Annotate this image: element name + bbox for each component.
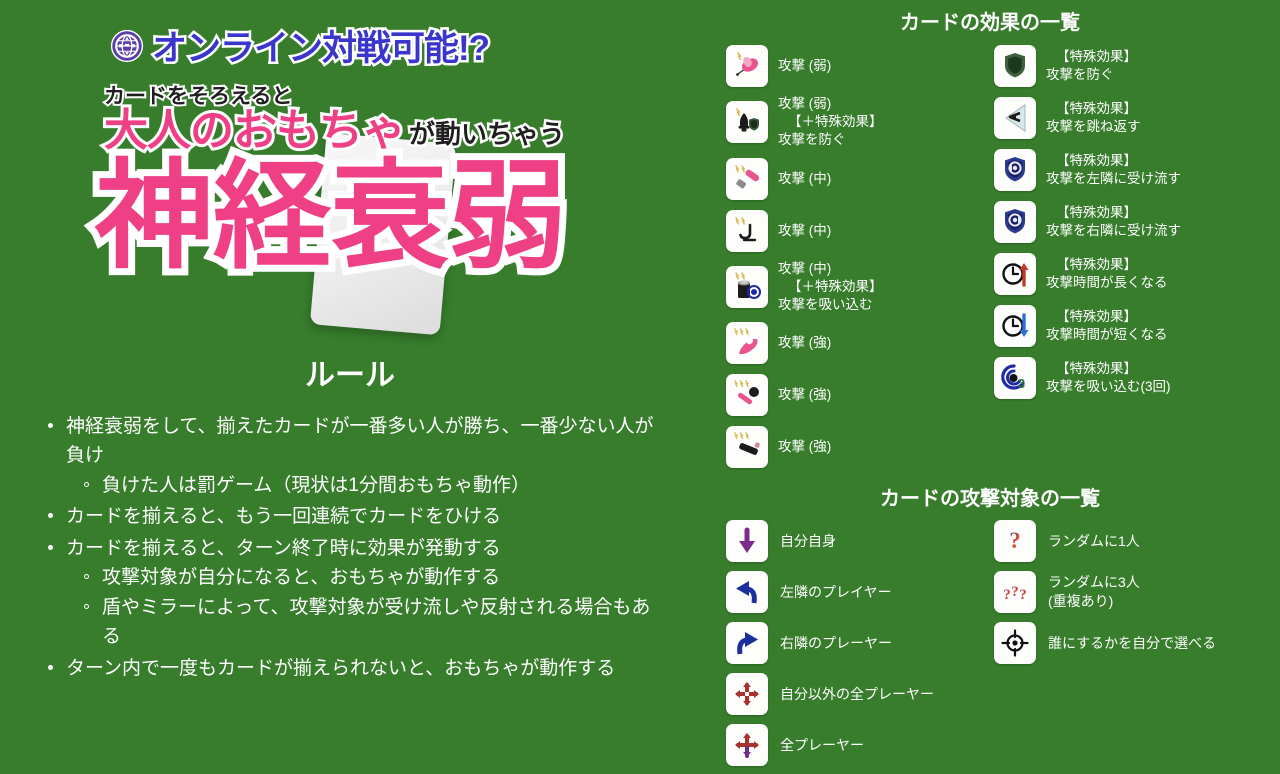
target-line: 全プレーヤー: [780, 736, 864, 755]
effect-line: 攻撃 (強): [778, 438, 831, 456]
effect-line: 攻撃を左隣に受け流す: [1046, 170, 1181, 188]
sub-bullet-icon: [84, 574, 89, 579]
target-text: 左隣のプレイヤー: [780, 583, 892, 602]
sub-bullet-icon: [84, 604, 89, 609]
rules-subitem-text: 負けた人は罰ゲーム（現状は1分間おもちゃ動作）: [102, 475, 530, 496]
effect-text: 攻撃 (中): [778, 170, 831, 188]
page-title: 神経衰弱: [95, 158, 567, 276]
effect-line: 攻撃を防ぐ: [778, 131, 883, 149]
effect-text: 【特殊効果】 攻撃を右隣に受け流す: [1046, 204, 1181, 240]
plug-shield-icon: [726, 101, 768, 143]
effect-text: 【特殊効果】 攻撃を左隣に受け流す: [1046, 152, 1181, 188]
target-text: ランダムに1人: [1048, 532, 1140, 551]
rules-subitem: 攻撃対象が自分になると、おもちゃが動作する: [84, 563, 660, 592]
bullet-icon: [48, 513, 53, 518]
effect-line: 攻撃 (中): [778, 170, 831, 188]
effects-grid: 攻撃 (弱) 攻撃: [700, 43, 1280, 476]
effect-row: 攻撃 (強): [726, 320, 994, 366]
cylinder-suction-icon: [726, 266, 768, 308]
effect-row: 【特殊効果】 攻撃時間が長くなる: [994, 251, 1262, 297]
target-text: 自分自身: [780, 532, 836, 551]
target-line: 自分自身: [780, 532, 836, 551]
svg-text:?: ?: [1009, 528, 1021, 553]
effect-row: 【特殊効果】 攻撃を左隣に受け流す: [994, 147, 1262, 193]
bullet-icon: [48, 423, 53, 428]
clock-up-icon: [994, 253, 1036, 295]
target-row: 自分自身: [726, 519, 994, 563]
rules-subitem-text: 攻撃対象が自分になると、おもちゃが動作する: [102, 567, 500, 588]
arrows-cross-red-icon: [726, 673, 768, 715]
shield-right-icon: [994, 201, 1036, 243]
effect-text: 攻撃 (中) 【＋特殊効果】 攻撃を吸い込む: [778, 260, 883, 315]
rules-item-text: カードを揃えると、ターン終了時に効果が発動する: [66, 538, 501, 559]
effect-line: 攻撃時間が長くなる: [1046, 274, 1168, 292]
rules-item: カードを揃えると、ターン終了時に効果が発動する 攻撃対象が自分になると、おもちゃ…: [48, 534, 660, 652]
effect-line: 攻撃 (中): [778, 222, 831, 240]
targets-grid: 自分自身 左隣のプレイヤー: [700, 519, 1280, 774]
target-row: 右隣のプレーヤー: [726, 621, 994, 665]
target-row: 全プレーヤー: [726, 723, 994, 767]
rules-item: ターン内で一度もカードが揃えられないと、おもちゃが動作する: [48, 654, 660, 683]
effect-text: 【特殊効果】 攻撃時間が短くなる: [1046, 308, 1168, 344]
tagline-main: 大人のおもちゃ が動いちゃう: [104, 108, 565, 154]
effect-line: 【特殊効果】: [1046, 308, 1168, 326]
effect-text: 攻撃 (強): [778, 386, 831, 404]
target-text: 誰にするかを自分で選べる: [1048, 634, 1216, 653]
effect-line: 攻撃を跳ね返す: [1046, 118, 1141, 136]
target-row: 自分以外の全プレーヤー: [726, 672, 994, 716]
effect-text: 【特殊効果】 攻撃を吸い込む(3回): [1046, 360, 1171, 396]
effect-text: 【特殊効果】 攻撃時間が長くなる: [1046, 256, 1168, 292]
effect-row: 攻撃 (弱): [726, 43, 994, 89]
svg-text:?: ?: [1019, 587, 1027, 603]
effect-row: 攻撃 (弱) 【＋特殊効果】 攻撃を防ぐ: [726, 95, 994, 150]
arrows-cross-purple-icon: [726, 724, 768, 766]
effects-heading: カードの効果の一覧: [700, 0, 1280, 43]
arrow-left-turn-icon: [726, 571, 768, 613]
pink-toy-icon: [726, 322, 768, 364]
bullet-icon: [48, 545, 53, 550]
effect-row: 【特殊効果】 攻撃を防ぐ: [994, 43, 1262, 89]
question-triple-icon: ? ? ?: [994, 571, 1036, 613]
egg-vibe-icon: [726, 45, 768, 87]
effect-line: 【特殊効果】: [1046, 152, 1181, 170]
effect-row: 3 【特殊効果】 攻撃を吸い込む(3回): [994, 355, 1262, 401]
effect-row: 攻撃 (強): [726, 372, 994, 418]
tagline-highlight: 大人のおもちゃ: [104, 108, 405, 154]
right-panel: カードの効果の一覧 攻撃 (弱): [700, 0, 1280, 720]
target-row: 左隣のプレイヤー: [726, 570, 994, 614]
rules-subitem: 盾やミラーによって、攻撃対象が受け流しや反射される場合もある: [84, 593, 660, 652]
target-row: 誰にするかを自分で選べる: [994, 621, 1262, 665]
shield-green-icon: [994, 45, 1036, 87]
target-row: ? ? ? ランダムに3人 (重複あり): [994, 570, 1262, 614]
effect-line: 【特殊効果】: [1046, 48, 1137, 66]
bullet-icon: [48, 665, 53, 670]
rules-subitem: 負けた人は罰ゲーム（現状は1分間おもちゃ動作）: [84, 471, 660, 500]
effects-right-column: 【特殊効果】 攻撃を防ぐ 【特殊効果】 攻撃を跳ね返す: [994, 43, 1262, 476]
effect-text: 攻撃 (中): [778, 222, 831, 240]
targets-right-column: ? ランダムに1人: [994, 519, 1262, 774]
effect-row: 攻撃 (中): [726, 208, 994, 254]
target-line: (重複あり): [1048, 592, 1140, 611]
effect-text: 攻撃 (弱): [778, 57, 831, 75]
target-text: 右隣のプレーヤー: [780, 634, 892, 653]
target-row: ? ランダムに1人: [994, 519, 1262, 563]
target-line: 自分以外の全プレーヤー: [780, 685, 934, 704]
target-line: ランダムに3人: [1048, 573, 1140, 592]
effect-text: 【特殊効果】 攻撃を跳ね返す: [1046, 100, 1141, 136]
effect-line: 【＋特殊効果】: [778, 278, 883, 296]
mirror-bounce-icon: [994, 97, 1036, 139]
effect-line: 攻撃を吸い込む(3回): [1046, 378, 1171, 396]
online-badge: オンライン対戦可能!?: [108, 20, 489, 71]
effect-line: 【特殊効果】: [1046, 256, 1168, 274]
effect-line: 【特殊効果】: [1046, 204, 1181, 222]
targets-heading: カードの攻撃対象の一覧: [700, 476, 1280, 519]
rules-item: カードを揃えると、もう一回連続でカードをひける: [48, 502, 660, 531]
effect-line: 【特殊効果】: [1046, 100, 1141, 118]
effect-row: 攻撃 (中) 【＋特殊効果】 攻撃を吸い込む: [726, 260, 994, 315]
effect-line: 【＋特殊効果】: [778, 113, 883, 131]
effect-row: 【特殊効果】 攻撃を右隣に受け流す: [994, 199, 1262, 245]
rules-item: 神経衰弱をして、揃えたカードが一番多い人が勝ち、一番少ない人が負け 負けた人は罰…: [48, 412, 660, 500]
arrow-down-icon: [726, 520, 768, 562]
effect-line: 攻撃を右隣に受け流す: [1046, 222, 1181, 240]
targets-left-column: 自分自身 左隣のプレイヤー: [726, 519, 994, 774]
left-panel: オンライン対戦可能!? カードをそろえると 大人のおもちゃ が動いちゃう 神経衰…: [0, 0, 700, 720]
online-label: オンライン対戦可能!?: [152, 20, 489, 71]
rules-item-text: カードを揃えると、もう一回連続でカードをひける: [66, 506, 501, 527]
effect-row: 【特殊効果】 攻撃時間が短くなる: [994, 303, 1262, 349]
effect-text: 【特殊効果】 攻撃を防ぐ: [1046, 48, 1137, 84]
effect-line: 攻撃 (強): [778, 386, 831, 404]
rules-list: 神経衰弱をして、揃えたカードが一番多い人が勝ち、一番少ない人が負け 負けた人は罰…: [0, 412, 700, 683]
effect-line: 攻撃を吸い込む: [778, 296, 883, 314]
effect-text: 攻撃 (弱) 【＋特殊効果】 攻撃を防ぐ: [778, 95, 883, 150]
target-line: ランダムに1人: [1048, 532, 1140, 551]
effect-line: 【特殊効果】: [1046, 360, 1171, 378]
rules-sublist: 攻撃対象が自分になると、おもちゃが動作する 盾やミラーによって、攻撃対象が受け流…: [66, 563, 660, 651]
massager-icon: [726, 374, 768, 416]
effect-line: 攻撃 (弱): [778, 95, 883, 113]
svg-text:?: ?: [1011, 584, 1019, 600]
effect-line: 攻撃 (弱): [778, 57, 831, 75]
hook-icon: [726, 210, 768, 252]
rules-sublist: 負けた人は罰ゲーム（現状は1分間おもちゃ動作）: [66, 471, 660, 500]
clock-down-icon: [994, 305, 1036, 347]
svg-text:?: ?: [1003, 587, 1011, 603]
sub-bullet-icon: [84, 482, 89, 487]
effect-line: 攻撃 (中): [778, 260, 883, 278]
globe-icon: [108, 27, 146, 65]
effect-text: 攻撃 (強): [778, 334, 831, 352]
target-line: 右隣のプレーヤー: [780, 634, 892, 653]
crosshair-icon: [994, 622, 1036, 664]
effect-line: 攻撃時間が短くなる: [1046, 326, 1168, 344]
poster-root: オンライン対戦可能!? カードをそろえると 大人のおもちゃ が動いちゃう 神経衰…: [0, 0, 1280, 720]
effects-left-column: 攻撃 (弱) 攻撃: [726, 43, 994, 476]
target-line: 誰にするかを自分で選べる: [1048, 634, 1216, 653]
rules-subitem-text: 盾やミラーによって、攻撃対象が受け流しや反射される場合もある: [102, 597, 650, 647]
rules-item-text: ターン内で一度もカードが揃えられないと、おもちゃが動作する: [66, 658, 615, 679]
arrow-right-turn-icon: [726, 622, 768, 664]
question-single-icon: ?: [994, 520, 1036, 562]
effect-text: 攻撃 (強): [778, 438, 831, 456]
effect-line: 攻撃 (強): [778, 334, 831, 352]
target-line: 左隣のプレイヤー: [780, 583, 892, 602]
rules-item-text: 神経衰弱をして、揃えたカードが一番多い人が勝ち、一番少ない人が負け: [66, 416, 653, 466]
target-text: 自分以外の全プレーヤー: [780, 685, 934, 704]
effect-row: 攻撃 (中): [726, 156, 994, 202]
target-text: ランダムに3人 (重複あり): [1048, 573, 1140, 611]
tagline-suffix: が動いちゃう: [409, 115, 565, 154]
target-text: 全プレーヤー: [780, 736, 864, 755]
wand-pink-icon: [726, 158, 768, 200]
effect-line: 攻撃を防ぐ: [1046, 66, 1137, 84]
rules-heading: ルール: [0, 350, 700, 402]
shield-left-icon: [994, 149, 1036, 191]
hero-section: オンライン対戦可能!? カードをそろえると 大人のおもちゃ が動いちゃう 神経衰…: [0, 0, 700, 350]
svg-text:3: 3: [1018, 376, 1025, 391]
effect-row: 攻撃 (強): [726, 424, 994, 470]
effect-row: 【特殊効果】 攻撃を跳ね返す: [994, 95, 1262, 141]
black-wand-icon: [726, 426, 768, 468]
suction-three-icon: 3: [994, 357, 1036, 399]
